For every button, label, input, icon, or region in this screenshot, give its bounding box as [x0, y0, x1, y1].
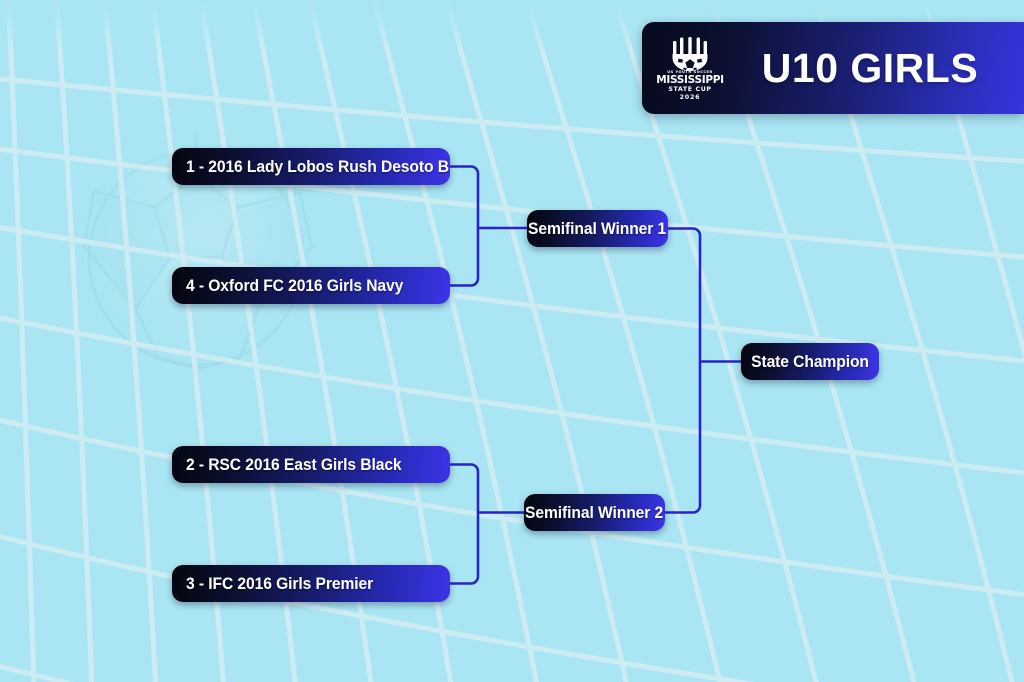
- bracket-semifinal-winner-1[interactable]: Semifinal Winner 1: [527, 210, 668, 247]
- bracket-team-3-label: 3 - IFC 2016 Girls Premier: [186, 574, 373, 594]
- bracket-team-2[interactable]: 2 - RSC 2016 East Girls Black: [172, 446, 450, 483]
- bracket-team-1[interactable]: 1 - 2016 Lady Lobos Rush Desoto Blue: [172, 148, 450, 185]
- crown-soccer-ball-icon: [669, 37, 711, 71]
- bracket-team-2-label: 2 - RSC 2016 East Girls Black: [186, 455, 402, 475]
- logo-sub-text: STATE CUP: [668, 87, 711, 93]
- bracket-semifinal-winner-2-label: Semifinal Winner 2: [525, 503, 663, 523]
- bracket-team-3[interactable]: 3 - IFC 2016 Girls Premier: [172, 565, 450, 602]
- bracket-state-champion[interactable]: State Champion: [741, 343, 879, 380]
- tournament-logo: US YOUTH SOCCER MISSISSIPPI STATE CUP 20…: [642, 22, 738, 114]
- category-header-banner: US YOUTH SOCCER MISSISSIPPI STATE CUP 20…: [642, 22, 1024, 114]
- logo-year-text: 2026: [680, 95, 701, 101]
- logo-state-text: MISSISSIPPI: [656, 75, 723, 86]
- bracket-team-1-label: 1 - 2016 Lady Lobos Rush Desoto Blue: [186, 157, 450, 177]
- bracket-state-champion-label: State Champion: [751, 352, 869, 372]
- bracket-team-4[interactable]: 4 - Oxford FC 2016 Girls Navy: [172, 267, 450, 304]
- bracket-semifinal-winner-1-label: Semifinal Winner 1: [528, 219, 666, 239]
- bracket-team-4-label: 4 - Oxford FC 2016 Girls Navy: [186, 276, 403, 296]
- bracket-page: US YOUTH SOCCER MISSISSIPPI STATE CUP 20…: [0, 0, 1024, 682]
- bracket-semifinal-winner-2[interactable]: Semifinal Winner 2: [524, 494, 665, 531]
- page-title: U10 GIRLS: [738, 45, 1024, 92]
